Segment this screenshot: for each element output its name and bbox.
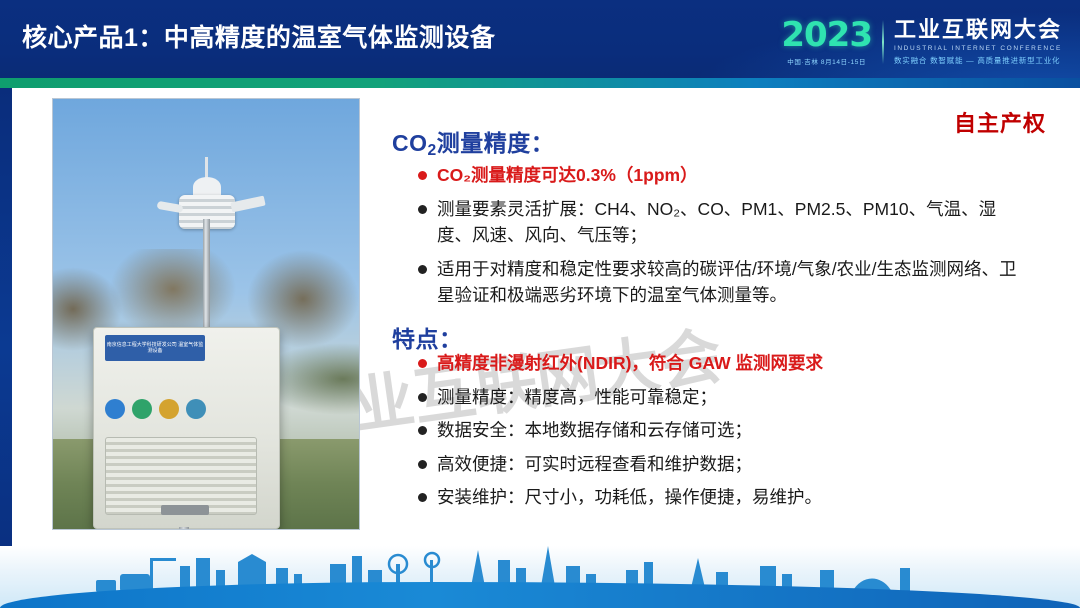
logo-conference-name-cn: 工业互联网大会 bbox=[894, 18, 1062, 42]
bullet-dot-icon bbox=[418, 493, 427, 502]
badge-icon-4 bbox=[186, 399, 206, 419]
bullet-dot-icon bbox=[418, 426, 427, 435]
bullet-dot-icon bbox=[418, 460, 427, 469]
sensor-mast bbox=[203, 219, 210, 339]
list-item: 安装维护：尺寸小，功耗低，操作便捷，易维护。 bbox=[418, 484, 1030, 511]
bullet-dot-icon bbox=[418, 265, 427, 274]
logo-year: 2023 bbox=[781, 18, 872, 52]
bullet-text: 测量要素灵活扩展：CH4、NO₂、CO、PM1、PM2.5、PM10、气温、湿度… bbox=[437, 196, 1030, 249]
cabinet-vent-grille bbox=[105, 437, 257, 515]
bullet-dot-icon bbox=[418, 171, 427, 180]
section-title-features: 特点： bbox=[392, 320, 463, 354]
slide-footer bbox=[0, 546, 1080, 608]
slide-header: 核心产品1：中高精度的温室气体监测设备 2023 中国·吉林 8月14日-15日… bbox=[0, 0, 1080, 88]
cabinet-badge-icons bbox=[105, 399, 225, 423]
bullet-list-accuracy: CO₂测量精度可达0.3%（1ppm） 测量要素灵活扩展：CH4、NO₂、CO、… bbox=[418, 162, 1030, 316]
section1-title-sub: 2 bbox=[428, 142, 437, 159]
list-item: 适用于对精度和稳定性要求较高的碳评估/环境/气象/农业/生态监测网络、卫星验证和… bbox=[418, 256, 1030, 309]
left-blue-rail bbox=[0, 88, 12, 608]
badge-icon-3 bbox=[159, 399, 179, 419]
bullet-text: 测量精度：精度高，性能可靠稳定； bbox=[437, 384, 717, 411]
bullet-text: 数据安全：本地数据存储和云存储可选； bbox=[437, 417, 752, 444]
bullet-dot-icon bbox=[418, 359, 427, 368]
cabinet-label: 南京信息工程大学科技研发公司 温室气体监测设备 bbox=[105, 335, 205, 361]
section1-title-prefix: CO bbox=[392, 130, 428, 156]
list-item: 高效便捷：可实时远程查看和维护数据； bbox=[418, 451, 1030, 478]
logo-conference-name-en: INDUSTRIAL INTERNET CONFERENCE bbox=[894, 45, 1062, 52]
section-title-accuracy: CO2测量精度： bbox=[392, 124, 554, 160]
logo-text-block: 工业互联网大会 INDUSTRIAL INTERNET CONFERENCE 数… bbox=[894, 18, 1062, 66]
support-pole bbox=[179, 527, 189, 530]
bullet-dot-icon bbox=[418, 393, 427, 402]
badge-icon-1 bbox=[105, 399, 125, 419]
sensor-cap bbox=[193, 177, 221, 197]
logo-year-subtitle: 中国·吉林 8月14日-15日 bbox=[787, 56, 866, 66]
bullet-text: CO₂测量精度可达0.3%（1ppm） bbox=[437, 162, 698, 189]
cabinet-label-text: 南京信息工程大学科技研发公司 温室气体监测设备 bbox=[105, 342, 205, 355]
list-item: CO₂测量精度可达0.3%（1ppm） bbox=[418, 162, 1030, 189]
product-photo: 南京信息工程大学科技研发公司 温室气体监测设备 bbox=[52, 98, 360, 530]
list-item: 高精度非漫射红外(NDIR)，符合 GAW 监测网要求 bbox=[418, 350, 1030, 377]
logo-year-block: 2023 中国·吉林 8月14日-15日 bbox=[781, 18, 882, 66]
section1-title-suffix: 测量精度： bbox=[437, 130, 555, 156]
bullet-text: 高精度非漫射红外(NDIR)，符合 GAW 监测网要求 bbox=[437, 350, 823, 377]
bullet-dot-icon bbox=[418, 205, 427, 214]
list-item: 测量要素灵活扩展：CH4、NO₂、CO、PM1、PM2.5、PM10、气温、湿度… bbox=[418, 196, 1030, 249]
bullet-text: 高效便捷：可实时远程查看和维护数据； bbox=[437, 451, 752, 478]
pole-base bbox=[161, 505, 209, 515]
bullet-text: 适用于对精度和稳定性要求较高的碳评估/环境/气象/农业/生态监测网络、卫星验证和… bbox=[437, 256, 1030, 309]
bullet-list-features: 高精度非漫射红外(NDIR)，符合 GAW 监测网要求 测量精度：精度高，性能可… bbox=[418, 350, 1030, 518]
logo-tagline: 数实融合 数智赋能 — 高质量推进新型工业化 bbox=[894, 55, 1062, 66]
logo-divider bbox=[882, 20, 884, 64]
list-item: 数据安全：本地数据存储和云存储可选； bbox=[418, 417, 1030, 444]
conference-logo: 2023 中国·吉林 8月14日-15日 工业互联网大会 INDUSTRIAL … bbox=[781, 6, 1062, 78]
bullet-text: 安装维护：尺寸小，功耗低，操作便捷，易维护。 bbox=[437, 484, 822, 511]
slide-title: 核心产品1：中高精度的温室气体监测设备 bbox=[22, 18, 495, 54]
sensor-spike bbox=[205, 157, 208, 179]
badge-icon-2 bbox=[132, 399, 152, 419]
list-item: 测量精度：精度高，性能可靠稳定； bbox=[418, 384, 1030, 411]
ownership-badge: 自主产权 bbox=[954, 106, 1046, 138]
